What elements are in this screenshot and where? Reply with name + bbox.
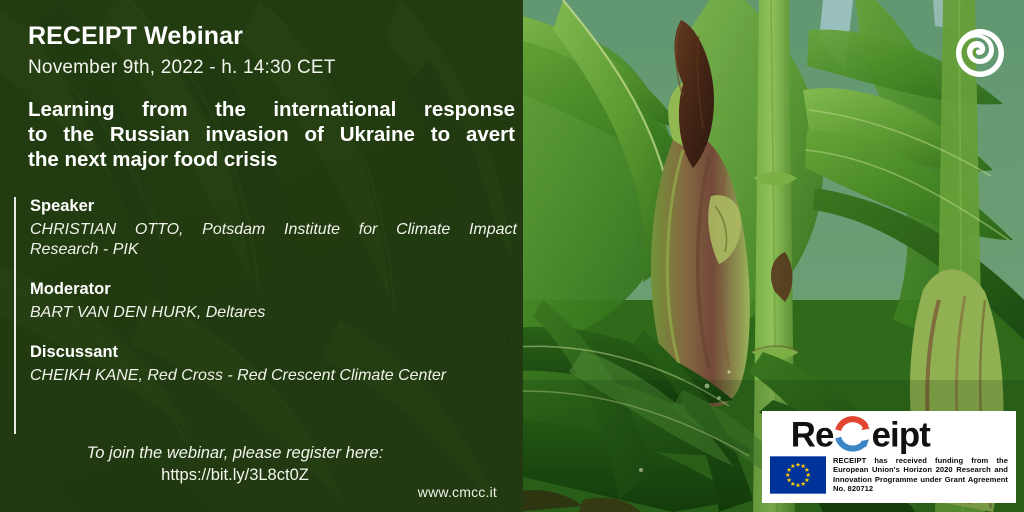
page-title: RECEIPT Webinar [28,22,243,51]
info-panel: RECEIPT Webinar November 9th, 2022 - h. … [0,0,523,512]
website-footer[interactable]: www.cmcc.it [418,484,497,500]
credit-role-label: Discussant [30,343,514,362]
headline-line-1: Learning from the international response [28,97,515,122]
cmcc-spiral-logo-icon [955,28,1005,78]
credit-people-line-1: BART VAN DEN HURK, Deltares [30,304,265,321]
credit-people: CHEIKH KANE, Red Cross - Red Crescent Cl… [30,366,517,386]
credits-list: Speaker CHRISTIAN OTTO, Potsdam Institut… [14,197,514,434]
credit-discussant: Discussant CHEIKH KANE, Red Cross - Red … [30,343,514,386]
registration-prompt: To join the webinar, please register her… [0,442,470,464]
credit-people: CHRISTIAN OTTO, Potsdam Institute for Cl… [30,220,517,260]
registration-link[interactable]: https://bit.ly/3L8ct0Z [0,464,470,486]
receipt-funding-logo-box: Re eipt [762,411,1016,503]
credit-people-line-2: Research - PIK [30,241,138,258]
credit-role-label: Speaker [30,197,514,216]
event-datetime: November 9th, 2022 - h. 14:30 CET [28,57,336,79]
panel-content: RECEIPT Webinar November 9th, 2022 - h. … [0,0,523,512]
webinar-headline: Learning from the international response… [28,97,515,172]
registration-block: To join the webinar, please register her… [0,442,470,486]
svg-text:Re: Re [791,416,834,454]
credit-speaker: Speaker CHRISTIAN OTTO, Potsdam Institut… [30,197,514,260]
eu-funding-statement: RECEIPT has received funding from the Eu… [833,456,1008,493]
european-union-flag-icon [770,456,826,494]
credit-people-line-1: CHEIKH KANE, Red Cross - Red Crescent Cl… [30,367,446,384]
receipt-wordmark: Re eipt [770,415,1008,455]
svg-text:eipt: eipt [872,416,932,454]
credit-role-label: Moderator [30,280,514,299]
credit-moderator: Moderator BART VAN DEN HURK, Deltares [30,280,514,323]
headline-line-3: the next major food crisis [28,147,515,172]
credit-people-line-1: CHRISTIAN OTTO, Potsdam Institute for Cl… [30,220,517,240]
webinar-poster: RECEIPT Webinar November 9th, 2022 - h. … [0,0,1024,512]
credit-people: BART VAN DEN HURK, Deltares [30,303,517,323]
headline-line-2: to the Russian invasion of Ukraine to av… [28,122,515,147]
eu-funding-row: RECEIPT has received funding from the Eu… [770,456,1008,494]
